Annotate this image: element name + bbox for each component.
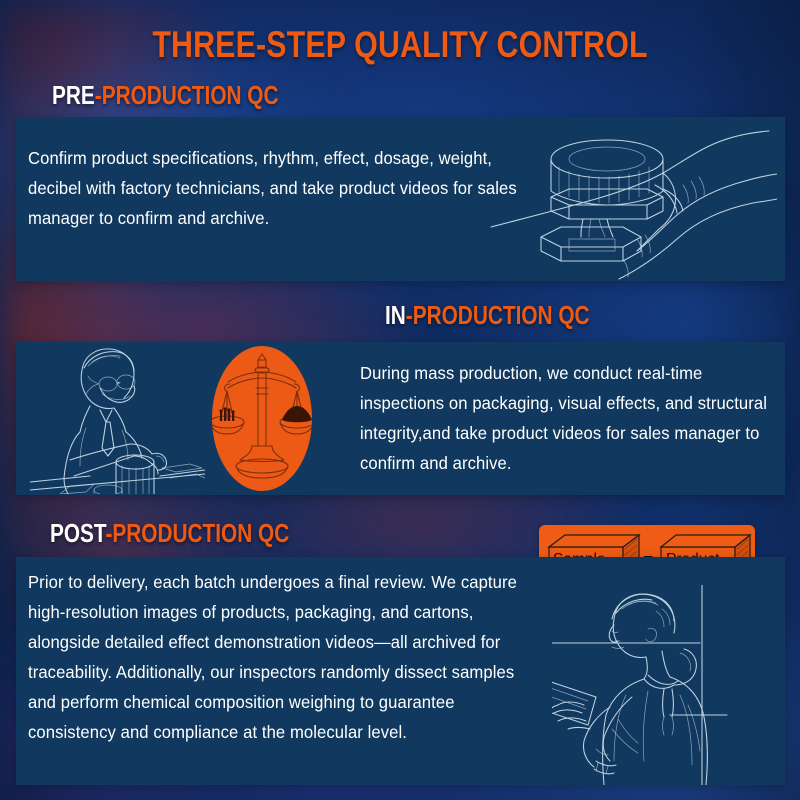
panel-pre-production-body: Confirm product specifications, rhythm, …: [28, 143, 522, 233]
panel-post-production-body: Prior to delivery, each batch undergoes …: [28, 567, 541, 747]
step-heading-pre-production: PRE-PRODUCTION QC: [52, 80, 279, 111]
panel-post-production: Prior to delivery, each batch undergoes …: [16, 557, 785, 785]
page-title: THREE-STEP QUALITY CONTROL: [72, 24, 728, 66]
step-heading-post-production-orange: -PRODUCTION QC: [105, 518, 289, 548]
panel-pre-production: Confirm product specifications, rhythm, …: [16, 117, 785, 281]
step-heading-in-production: IN-PRODUCTION QC: [385, 300, 590, 331]
step-heading-pre-production-white: PRE: [52, 80, 95, 110]
step-heading-post-production: POST-PRODUCTION QC: [50, 518, 289, 549]
infographic-poster: THREE-STEP QUALITY CONTROL PRE-PRODUCTIO…: [0, 0, 800, 800]
step-heading-pre-production-orange: -PRODUCTION QC: [95, 80, 279, 110]
technician-inspecting-icon: [30, 344, 205, 494]
panel-in-production: During mass production, we conduct real-…: [16, 342, 785, 495]
hand-holding-product-icon: [477, 119, 777, 281]
step-heading-in-production-orange: -PRODUCTION QC: [406, 300, 590, 330]
step-heading-in-production-white: IN: [385, 300, 406, 330]
step-heading-post-production-white: POST: [50, 518, 105, 548]
balance-scale-badge: [212, 346, 312, 491]
panel-in-production-body: During mass production, we conduct real-…: [360, 358, 769, 478]
inspector-with-tablet-icon: [552, 585, 767, 785]
